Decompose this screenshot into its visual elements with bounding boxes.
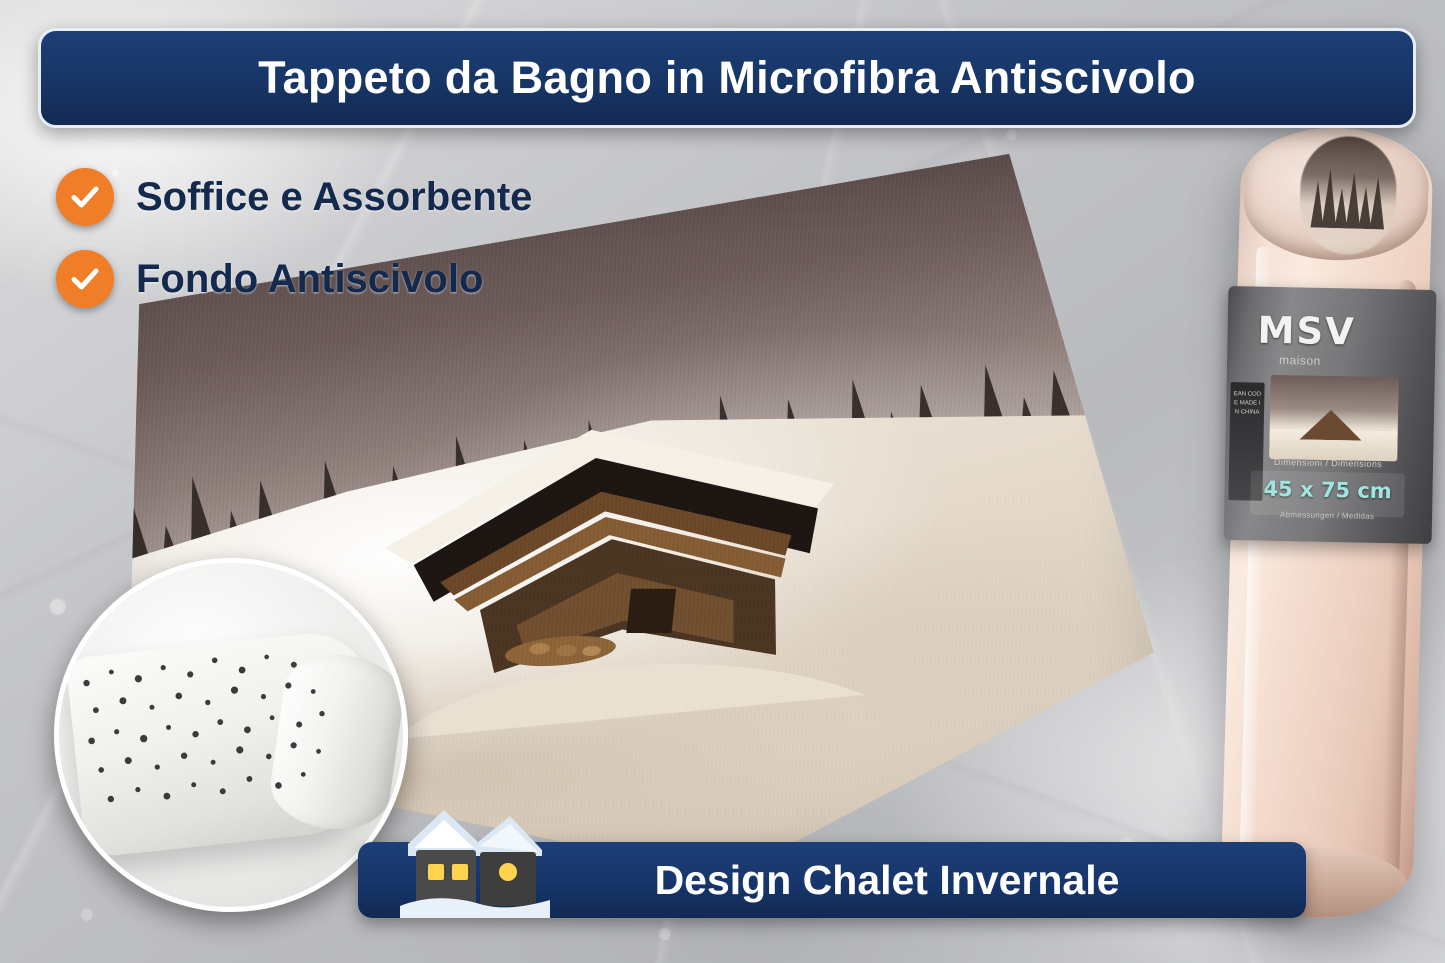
label-size-box: Dimensioni / Dimensions 45 x 75 cm Abmes… <box>1250 471 1405 518</box>
caption-text: Design Chalet Invernale <box>545 857 1120 904</box>
snow-cabin-icon <box>400 794 550 918</box>
label-size-value: 45 x 75 cm <box>1250 477 1404 504</box>
product-image-canvas: MSV maison EAN CODE MADE IN CHINA Dimens… <box>0 0 1445 963</box>
brand-name: MSV <box>1257 309 1356 354</box>
check-icon <box>56 250 114 308</box>
product-label-band: MSV maison EAN CODE MADE IN CHINA Dimens… <box>1224 286 1437 544</box>
feature-item: Fondo Antiscivolo <box>56 250 716 308</box>
feature-label: Fondo Antiscivolo <box>136 257 483 302</box>
feature-item: Soffice e Assorbente <box>56 168 716 226</box>
label-product-photo <box>1269 375 1399 461</box>
bath-mat-rolled: MSV maison EAN CODE MADE IN CHINA Dimens… <box>1220 125 1434 920</box>
feature-label: Soffice e Assorbente <box>136 175 532 220</box>
label-photo-roof <box>1300 409 1363 440</box>
anti-slip-dots <box>70 634 340 824</box>
headline-text: Tappeto da Bagno in Microfibra Antiscivo… <box>258 52 1196 104</box>
label-side-strip-text: EAN CODE MADE IN CHINA <box>1233 390 1262 418</box>
check-icon <box>56 168 114 226</box>
rolled-mat-tree-print <box>1307 157 1389 229</box>
rolled-mat-top-face <box>1242 126 1430 263</box>
feature-list: Soffice e Assorbente Fondo Antiscivolo <box>56 168 716 332</box>
headline-banner: Tappeto da Bagno in Microfibra Antiscivo… <box>38 28 1416 128</box>
caption-banner: Design Chalet Invernale <box>358 842 1306 918</box>
brand-subtitle: maison <box>1279 353 1321 368</box>
anti-slip-detail-inset <box>54 558 408 912</box>
